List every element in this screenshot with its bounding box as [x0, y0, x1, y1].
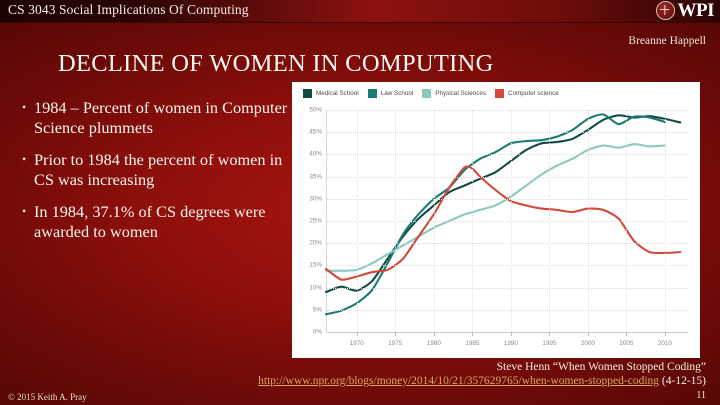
bullet-marker-icon: • [22, 98, 34, 117]
x-axis-tick-label: 1990 [504, 340, 518, 347]
x-axis-tick [511, 332, 512, 336]
series-line-2 [326, 144, 665, 271]
x-axis-tick-label: 1995 [542, 340, 556, 347]
bullet-text: Prior to 1984 the percent of women in CS… [34, 150, 290, 189]
legend-label: Physical Sciences [435, 90, 486, 97]
x-gridline [588, 110, 589, 332]
y-gridline [326, 310, 688, 311]
x-axis-tick-label: 2010 [658, 340, 672, 347]
x-gridline [434, 110, 435, 332]
x-axis-tick-label: 1985 [465, 340, 479, 347]
x-axis-tick [549, 332, 550, 336]
wpi-logo-text: WPI [678, 2, 715, 20]
bullet-list: • 1984 – Percent of women in Computer Sc… [22, 98, 290, 254]
x-axis-tick-label: 1975 [388, 340, 402, 347]
list-item: • 1984 – Percent of women in Computer Sc… [22, 98, 290, 137]
legend-label: Medical School [316, 90, 359, 97]
legend-item-3[interactable]: Computer science [495, 89, 559, 98]
list-item: • Prior to 1984 the percent of women in … [22, 150, 290, 189]
x-gridline [665, 110, 666, 332]
y-gridline [326, 221, 688, 222]
legend-swatch-icon [303, 89, 312, 98]
list-item: • In 1984, 37.1% of CS degrees were awar… [22, 202, 290, 241]
y-gridline [326, 177, 688, 178]
y-gridline [326, 154, 688, 155]
legend-swatch-icon [422, 89, 431, 98]
y-axis-tick-label: 15% [309, 262, 322, 269]
slide: CS 3043 Social Implications Of Computing… [0, 0, 720, 405]
y-axis-tick-label: 5% [313, 306, 322, 313]
x-gridline [395, 110, 396, 332]
author-name: Breanne Happell [628, 35, 706, 47]
x-axis-tick-label: 2005 [619, 340, 633, 347]
x-axis-tick [395, 332, 396, 336]
y-axis-tick-label: 45% [309, 129, 322, 136]
y-axis-tick-label: 25% [309, 218, 322, 225]
chart-plot-area: 0%5%10%15%20%25%30%35%40%45%50%197019751… [326, 110, 688, 332]
chart-legend: Medical SchoolLaw SchoolPhysical Science… [303, 89, 559, 98]
y-gridline [326, 199, 688, 200]
source-url-link[interactable]: http://www.npr.org/blogs/money/2014/10/2… [258, 375, 659, 387]
y-axis-tick-label: 10% [309, 284, 322, 291]
bullet-marker-icon: • [22, 202, 34, 221]
legend-item-1[interactable]: Law School [368, 89, 414, 98]
course-title: CS 3043 Social Implications Of Computing [8, 2, 249, 18]
slide-header-bar: CS 3043 Social Implications Of Computing… [0, 0, 720, 23]
x-axis-tick [626, 332, 627, 336]
x-gridline [511, 110, 512, 332]
y-axis-tick-label: 35% [309, 173, 322, 180]
x-axis-tick-label: 2000 [581, 340, 595, 347]
y-gridline [326, 132, 688, 133]
legend-label: Law School [381, 90, 414, 97]
y-gridline [326, 332, 688, 333]
citation-text: Steve Henn “When Women Stopped Coding” [497, 361, 706, 373]
y-gridline [326, 243, 688, 244]
x-axis-tick-label: 1980 [427, 340, 441, 347]
x-gridline [472, 110, 473, 332]
legend-swatch-icon [495, 89, 504, 98]
y-axis-tick-label: 50% [309, 107, 322, 114]
legend-item-2[interactable]: Physical Sciences [422, 89, 486, 98]
x-axis-tick-label: 1970 [350, 340, 364, 347]
x-axis-tick [665, 332, 666, 336]
y-axis-tick-label: 20% [309, 240, 322, 247]
x-gridline [626, 110, 627, 332]
x-axis-tick [588, 332, 589, 336]
y-axis-tick-label: 30% [309, 195, 322, 202]
x-gridline [357, 110, 358, 332]
y-gridline [326, 110, 688, 111]
bullet-text: In 1984, 37.1% of CS degrees were awarde… [34, 202, 290, 241]
x-axis-tick [434, 332, 435, 336]
legend-swatch-icon [368, 89, 377, 98]
wpi-seal-icon [656, 1, 675, 20]
page-number: 11 [696, 390, 706, 401]
y-axis-tick-label: 0% [313, 329, 322, 336]
x-axis-tick [472, 332, 473, 336]
legend-label: Computer science [508, 90, 559, 97]
page-title: DECLINE OF WOMEN IN COMPUTING [58, 50, 494, 78]
source-url-line: http://www.npr.org/blogs/money/2014/10/2… [258, 375, 706, 387]
x-gridline [549, 110, 550, 332]
y-axis-tick-label: 40% [309, 151, 322, 158]
y-gridline [326, 288, 688, 289]
copyright-notice: © 2015 Keith A. Pray [8, 392, 87, 402]
line-chart: Medical SchoolLaw SchoolPhysical Science… [292, 82, 700, 358]
bullet-marker-icon: • [22, 150, 34, 169]
y-gridline [326, 265, 688, 266]
bullet-text: 1984 – Percent of women in Computer Scie… [34, 98, 290, 137]
wpi-logo: WPI [656, 1, 715, 20]
x-axis-tick [357, 332, 358, 336]
access-date: (4-12-15) [662, 375, 706, 387]
legend-item-0[interactable]: Medical School [303, 89, 359, 98]
